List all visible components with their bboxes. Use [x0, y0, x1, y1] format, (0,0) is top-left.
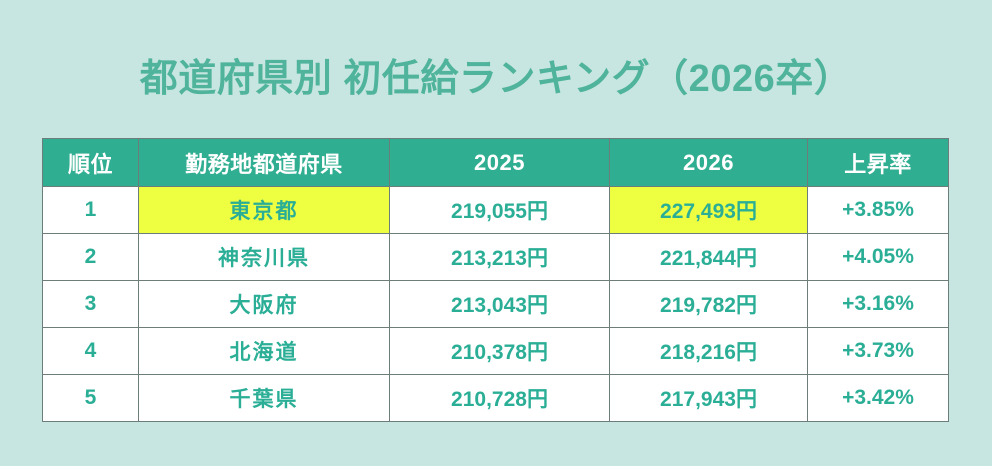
- table-row: 1東京都219,055円227,493円+3.85%: [43, 187, 949, 234]
- cell-salary-2026: 217,943円: [610, 375, 808, 422]
- cell-rank: 4: [43, 328, 139, 375]
- cell-prefecture: 神奈川県: [139, 234, 390, 281]
- table-row: 4北海道210,378円218,216円+3.73%: [43, 328, 949, 375]
- column-header-rate: 上昇率: [808, 139, 949, 187]
- starting-salary-ranking-table: 順位 勤務地都道府県 2025 2026 上昇率 1東京都219,055円227…: [42, 138, 949, 422]
- table-header-row: 順位 勤務地都道府県 2025 2026 上昇率: [43, 139, 949, 187]
- cell-rank: 3: [43, 281, 139, 328]
- column-header-prefecture: 勤務地都道府県: [139, 139, 390, 187]
- column-header-rank: 順位: [43, 139, 139, 187]
- table-row: 2神奈川県213,213円221,844円+4.05%: [43, 234, 949, 281]
- cell-salary-2026: 219,782円: [610, 281, 808, 328]
- cell-prefecture: 大阪府: [139, 281, 390, 328]
- cell-prefecture: 千葉県: [139, 375, 390, 422]
- cell-growth-rate: +3.85%: [808, 187, 949, 234]
- cell-rank: 5: [43, 375, 139, 422]
- cell-salary-2026: 221,844円: [610, 234, 808, 281]
- column-header-2026: 2026: [610, 139, 808, 187]
- cell-rank: 1: [43, 187, 139, 234]
- cell-salary-2025: 213,213円: [390, 234, 610, 281]
- cell-salary-2025: 213,043円: [390, 281, 610, 328]
- table-body: 1東京都219,055円227,493円+3.85%2神奈川県213,213円2…: [43, 187, 949, 422]
- cell-salary-2026: 218,216円: [610, 328, 808, 375]
- cell-salary-2025: 210,728円: [390, 375, 610, 422]
- cell-growth-rate: +3.42%: [808, 375, 949, 422]
- cell-rank: 2: [43, 234, 139, 281]
- cell-salary-2026: 227,493円: [610, 187, 808, 234]
- column-header-2025: 2025: [390, 139, 610, 187]
- cell-growth-rate: +3.73%: [808, 328, 949, 375]
- table-row: 3大阪府213,043円219,782円+3.16%: [43, 281, 949, 328]
- table-header: 順位 勤務地都道府県 2025 2026 上昇率: [43, 139, 949, 187]
- cell-salary-2025: 219,055円: [390, 187, 610, 234]
- cell-growth-rate: +4.05%: [808, 234, 949, 281]
- page-title: 都道府県別 初任給ランキング（2026卒）: [0, 47, 992, 102]
- page-root: 都道府県別 初任給ランキング（2026卒） 順位 勤務地都道府県 2025 20…: [0, 0, 992, 466]
- table-row: 5千葉県210,728円217,943円+3.42%: [43, 375, 949, 422]
- cell-prefecture: 北海道: [139, 328, 390, 375]
- cell-growth-rate: +3.16%: [808, 281, 949, 328]
- cell-salary-2025: 210,378円: [390, 328, 610, 375]
- cell-prefecture: 東京都: [139, 187, 390, 234]
